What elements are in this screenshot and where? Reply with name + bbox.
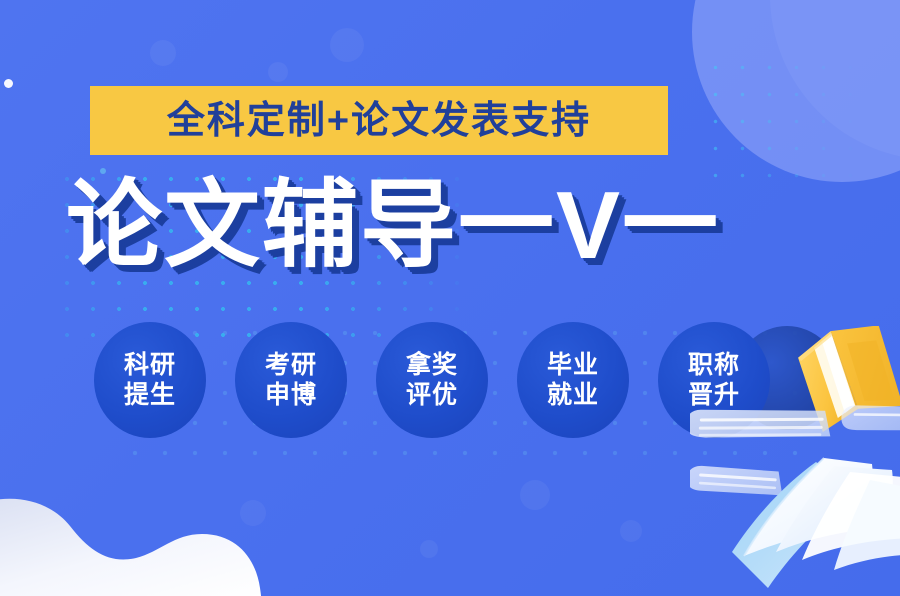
badge-line-2: 申博 [265, 380, 317, 411]
bokeh-dot [520, 480, 550, 510]
badge-line-1: 考研 [265, 350, 317, 381]
page-title: 论文辅导一V一 [66, 178, 720, 274]
bottom-left-cloud-wave-decor [0, 442, 320, 596]
bokeh-dot [420, 540, 438, 558]
poster-canvas: 全科定制+论文发表支持 论文辅导一V一 科研 提生 考研 申博 拿奖 评优 毕业… [0, 0, 900, 596]
badge-line-2: 就业 [547, 380, 599, 411]
bokeh-dot [268, 62, 288, 82]
badge-item-postgrad[interactable]: 考研 申博 [235, 322, 347, 438]
badge-line-2: 提生 [124, 380, 176, 411]
badge-item-awards[interactable]: 拿奖 评优 [376, 322, 488, 438]
bokeh-dot [330, 28, 364, 62]
headline-banner: 全科定制+论文发表支持 [90, 86, 668, 155]
badge-item-promotion[interactable]: 职称 晋升 [658, 322, 770, 438]
bokeh-dot [620, 520, 642, 542]
bokeh-dot [150, 40, 176, 66]
badge-line-1: 科研 [124, 350, 176, 381]
badge-item-research[interactable]: 科研 提生 [94, 322, 206, 438]
badge-line-1: 毕业 [547, 350, 599, 381]
badge-line-1: 职称 [688, 350, 740, 381]
badge-item-graduation[interactable]: 毕业 就业 [517, 322, 629, 438]
dot-matrix-top-right [702, 54, 900, 184]
headline-banner-text: 全科定制+论文发表支持 [167, 102, 591, 140]
cloud-wave-icon [0, 442, 320, 596]
badge-line-2: 评优 [406, 380, 458, 411]
badge-line-2: 晋升 [688, 380, 740, 411]
badge-line-1: 拿奖 [406, 350, 458, 381]
white-accent-dot [4, 79, 13, 88]
badge-list: 科研 提生 考研 申博 拿奖 评优 毕业 就业 职称 晋升 [94, 322, 770, 438]
